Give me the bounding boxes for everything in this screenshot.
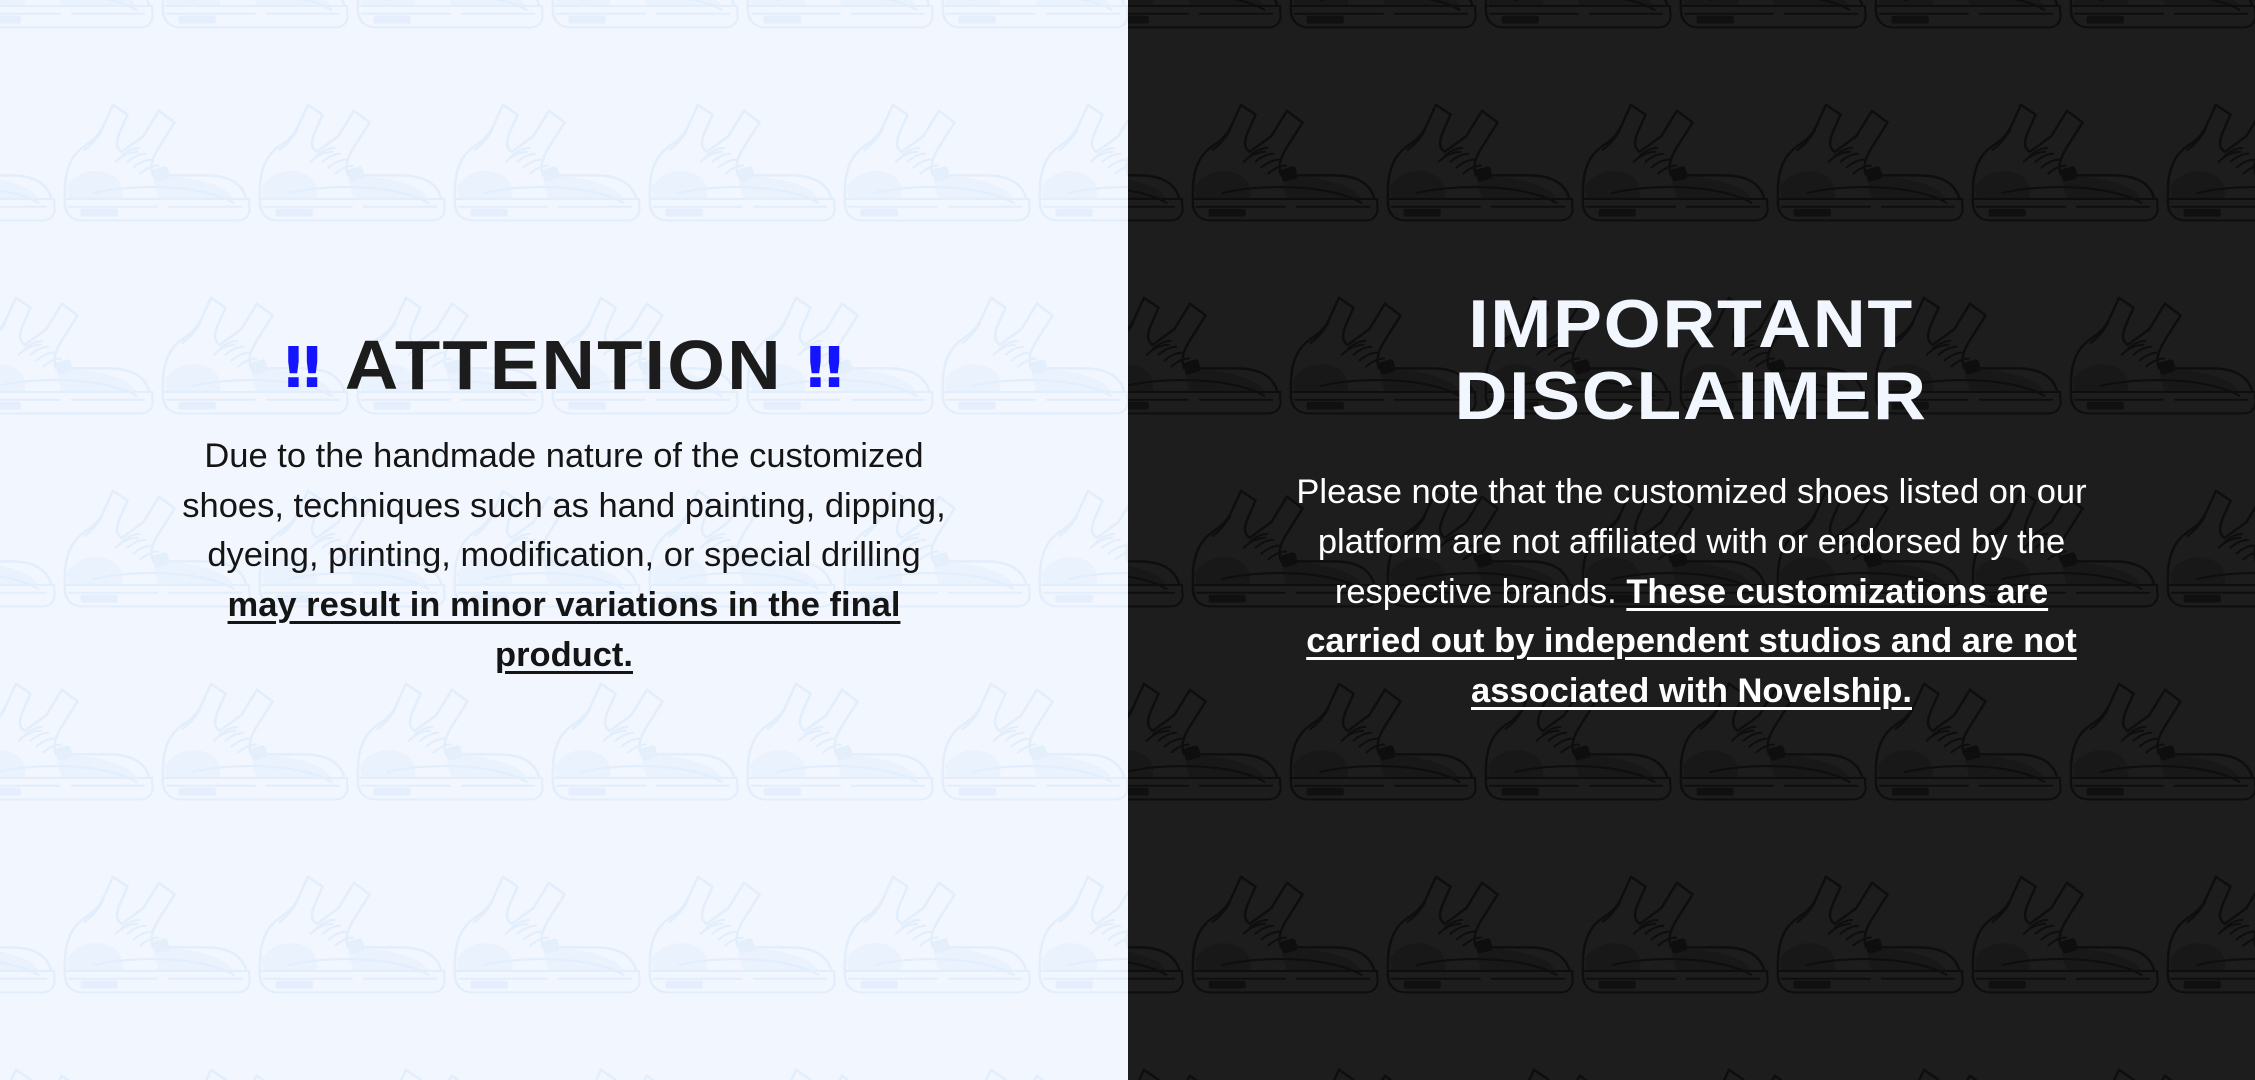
attention-body-emphasis: may result in minor variations in the fi… (228, 586, 901, 674)
attention-panel: ‼ATTENTION‼ Due to the handmade nature o… (0, 0, 1128, 1080)
disclaimer-headline-line2: DISCLAIMER (1455, 358, 1928, 434)
disclaimer-panel: IMPORTANTDISCLAIMER Please note that the… (1128, 0, 2255, 1080)
double-exclamation-icon-left: ‼ (284, 336, 321, 401)
disclaimer-content: IMPORTANTDISCLAIMER Please note that the… (1128, 0, 2255, 1080)
disclaimer-banner: ‼ATTENTION‼ Due to the handmade nature o… (0, 0, 2255, 1080)
attention-content: ‼ATTENTION‼ Due to the handmade nature o… (0, 0, 1128, 1080)
disclaimer-headline: IMPORTANTDISCLAIMER (1455, 288, 1928, 432)
attention-body-plain: Due to the handmade nature of the custom… (182, 437, 945, 574)
attention-body: Due to the handmade nature of the custom… (169, 432, 959, 680)
attention-headline-text: ATTENTION (345, 326, 783, 404)
disclaimer-headline-line1: IMPORTANT (1469, 286, 1915, 362)
attention-headline: ‼ATTENTION‼ (284, 330, 843, 400)
disclaimer-body: Please note that the customized shoes li… (1292, 468, 2092, 716)
double-exclamation-icon-right: ‼ (806, 336, 843, 401)
